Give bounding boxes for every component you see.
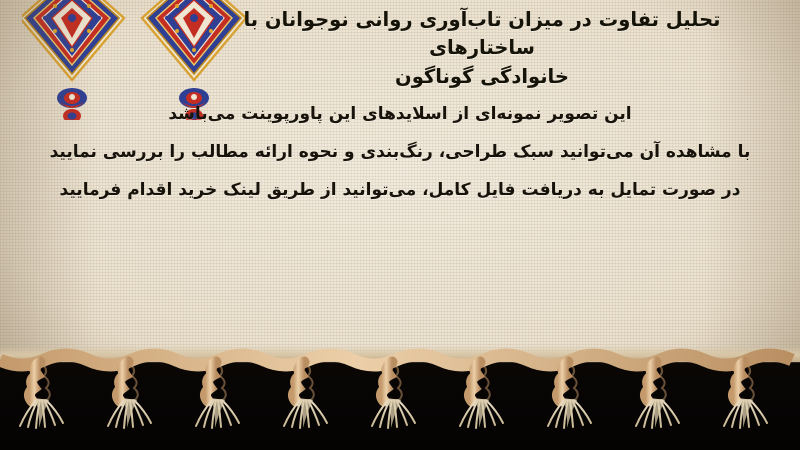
slide-title-line-2: خانوادگی گوناگون <box>220 63 744 91</box>
slide-title: تحلیل تفاوت در میزان تاب‌آوری روانی نوجو… <box>220 6 744 91</box>
body-line-1: این تصویر نمونه‌ای از اسلایدهای این پاور… <box>40 106 760 123</box>
slide-canvas: تحلیل تفاوت در میزان تاب‌آوری روانی نوجو… <box>0 0 800 450</box>
slide-title-line-1: تحلیل تفاوت در میزان تاب‌آوری روانی نوجو… <box>220 6 744 63</box>
carpet-tassel-fringe <box>0 340 800 450</box>
body-line-2: با مشاهده آن می‌توانید سبک طراحی، رنگ‌بن… <box>40 144 760 161</box>
slide-body: این تصویر نمونه‌ای از اسلایدهای این پاور… <box>40 106 760 199</box>
body-line-3: در صورت تمایل به دریافت فایل کامل، می‌تو… <box>40 182 760 199</box>
